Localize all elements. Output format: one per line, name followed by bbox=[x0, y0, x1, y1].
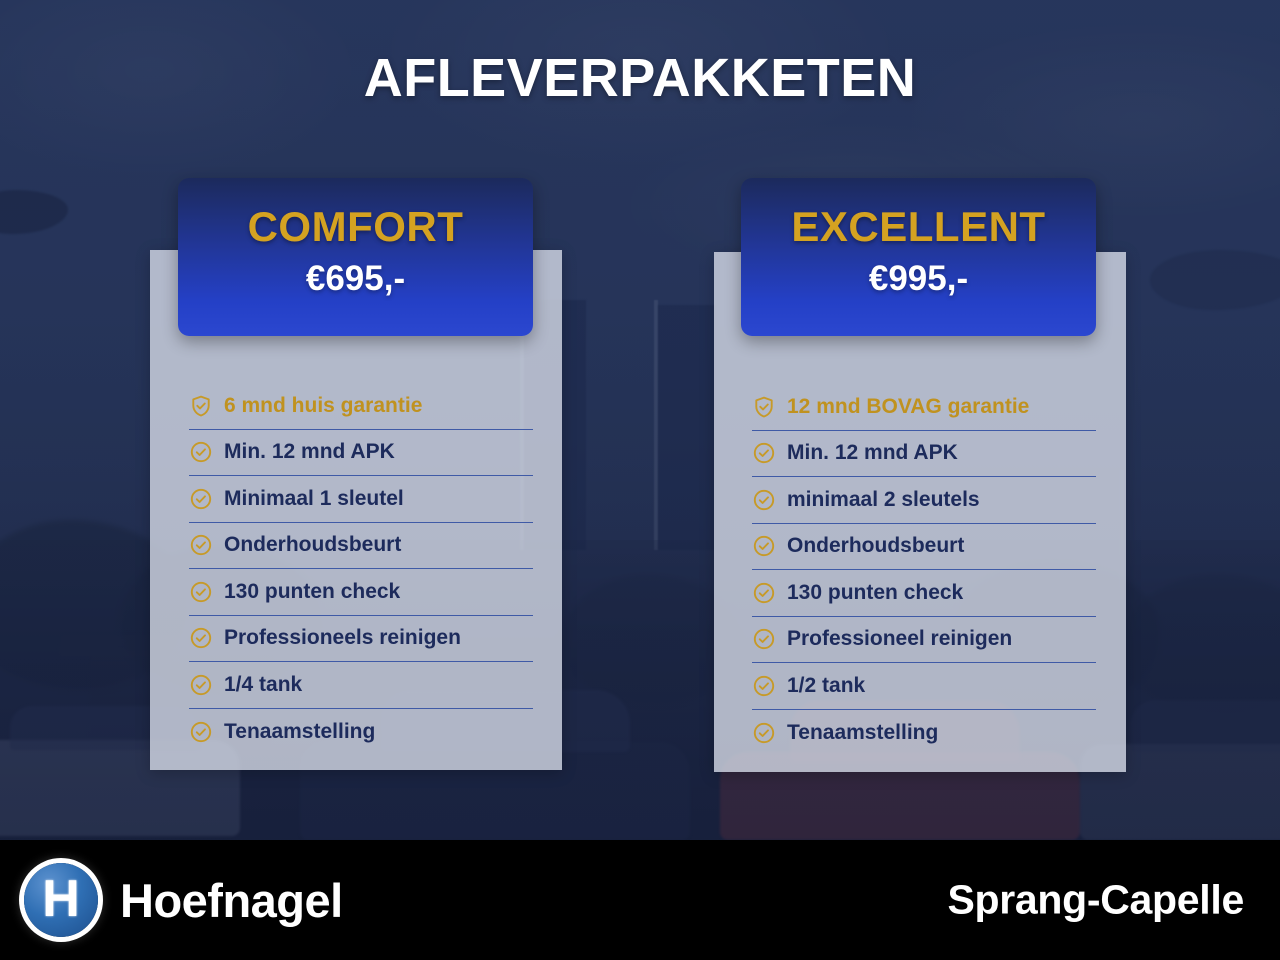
circle-check-icon bbox=[752, 581, 776, 605]
circle-check-icon bbox=[189, 440, 213, 464]
list-item: Minimaal 1 sleutel bbox=[189, 476, 533, 523]
list-item-label: 6 mnd huis garantie bbox=[224, 394, 422, 418]
card-header: EXCELLENT €995,- bbox=[741, 178, 1096, 336]
list-item-label: Onderhoudsbeurt bbox=[224, 533, 401, 557]
shield-check-icon bbox=[189, 394, 213, 418]
list-item-label: 130 punten check bbox=[787, 581, 963, 605]
hoefnagel-logo-icon: H bbox=[24, 863, 98, 937]
package-price: €995,- bbox=[741, 259, 1096, 299]
page-title: AFLEVERPAKKETEN bbox=[0, 47, 1280, 109]
circle-check-icon bbox=[752, 441, 776, 465]
package-price: €695,- bbox=[178, 259, 533, 299]
list-item: 12 mnd BOVAG garantie bbox=[752, 384, 1096, 431]
list-item-label: Minimaal 1 sleutel bbox=[224, 487, 404, 511]
footer-bar: H Hoefnagel Sprang-Capelle bbox=[0, 840, 1280, 960]
circle-check-icon bbox=[189, 580, 213, 604]
list-item-label: Onderhoudsbeurt bbox=[787, 534, 964, 558]
circle-check-icon bbox=[752, 627, 776, 651]
list-item-label: Tenaamstelling bbox=[224, 720, 375, 744]
list-item: Min. 12 mnd APK bbox=[189, 430, 533, 477]
list-item-label: Professioneel reinigen bbox=[787, 627, 1012, 651]
list-item-label: minimaal 2 sleutels bbox=[787, 488, 980, 512]
list-item: Onderhoudsbeurt bbox=[752, 524, 1096, 571]
list-item-label: 12 mnd BOVAG garantie bbox=[787, 395, 1029, 419]
list-item: 130 punten check bbox=[189, 569, 533, 616]
list-item: minimaal 2 sleutels bbox=[752, 477, 1096, 524]
circle-check-icon bbox=[189, 673, 213, 697]
list-item: 1/2 tank bbox=[752, 663, 1096, 710]
circle-check-icon bbox=[189, 626, 213, 650]
circle-check-icon bbox=[189, 487, 213, 511]
circle-check-icon bbox=[752, 488, 776, 512]
circle-check-icon bbox=[752, 674, 776, 698]
brand: H Hoefnagel bbox=[24, 863, 343, 937]
circle-check-icon bbox=[752, 721, 776, 745]
list-item-label: 130 punten check bbox=[224, 580, 400, 604]
list-item-label: Professioneels reinigen bbox=[224, 626, 461, 650]
logo-letter: H bbox=[42, 873, 80, 925]
list-item-label: 1/2 tank bbox=[787, 674, 865, 698]
list-item: Tenaamstelling bbox=[752, 710, 1096, 757]
feature-list: 6 mnd huis garantie Min. 12 mnd APK Mini… bbox=[189, 383, 533, 755]
list-item: 1/4 tank bbox=[189, 662, 533, 709]
list-item: 130 punten check bbox=[752, 570, 1096, 617]
list-item-label: 1/4 tank bbox=[224, 673, 302, 697]
feature-list: 12 mnd BOVAG garantie Min. 12 mnd APK mi… bbox=[752, 384, 1096, 756]
shield-check-icon bbox=[752, 395, 776, 419]
list-item: Onderhoudsbeurt bbox=[189, 523, 533, 570]
list-item: Professioneel reinigen bbox=[752, 617, 1096, 664]
list-item: Professioneels reinigen bbox=[189, 616, 533, 663]
circle-check-icon bbox=[189, 720, 213, 744]
list-item-label: Min. 12 mnd APK bbox=[787, 441, 958, 465]
list-item: Min. 12 mnd APK bbox=[752, 431, 1096, 478]
list-item: 6 mnd huis garantie bbox=[189, 383, 533, 430]
circle-check-icon bbox=[752, 534, 776, 558]
promo-graphic: AFLEVERPAKKETEN COMFORT €695,- 6 mnd hui… bbox=[0, 0, 1280, 960]
list-item-label: Tenaamstelling bbox=[787, 721, 938, 745]
brand-name: Hoefnagel bbox=[120, 873, 343, 928]
circle-check-icon bbox=[189, 533, 213, 557]
list-item-label: Min. 12 mnd APK bbox=[224, 440, 395, 464]
package-name: COMFORT bbox=[178, 203, 533, 251]
list-item: Tenaamstelling bbox=[189, 709, 533, 756]
package-name: EXCELLENT bbox=[741, 203, 1096, 251]
location-label: Sprang-Capelle bbox=[947, 877, 1244, 924]
card-header: COMFORT €695,- bbox=[178, 178, 533, 336]
